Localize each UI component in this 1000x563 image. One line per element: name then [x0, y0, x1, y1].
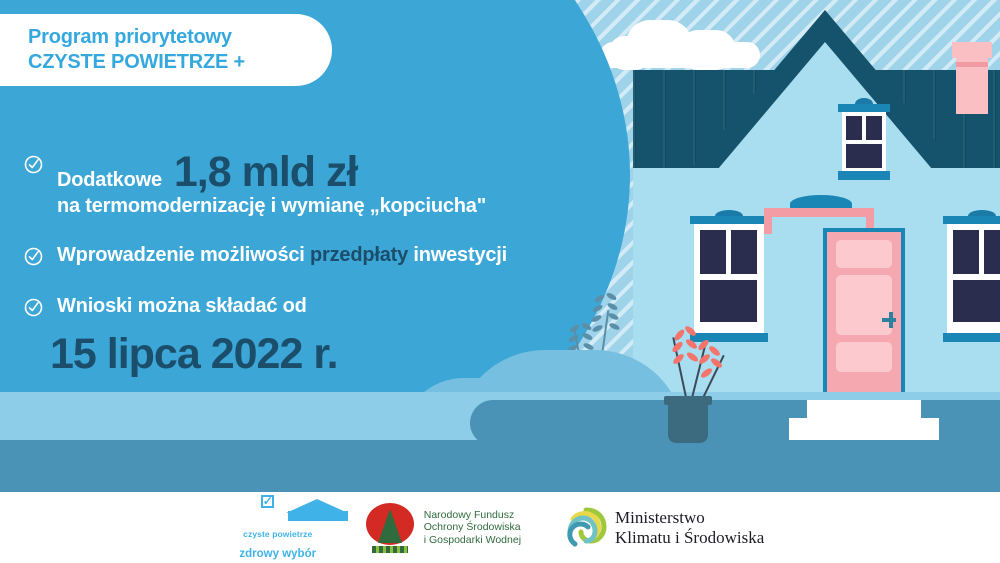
door-step-upper	[807, 400, 921, 418]
window-awning	[838, 104, 890, 112]
check-circle-icon	[24, 247, 43, 266]
window-awning	[943, 216, 1000, 224]
infographic-poster: Program priorytetowy CZYSTE POWIETRZE + …	[0, 0, 1000, 563]
bullet-highlight: przedpłaty	[310, 244, 408, 266]
bullet-lead-text: Dodatkowe	[57, 169, 162, 192]
nfosigw-text: Narodowy Fundusz Ochrony Środowiska i Go…	[424, 509, 521, 547]
badge-line-2: CZYSTE POWIETRZE +	[28, 50, 332, 75]
window-sill	[838, 171, 890, 180]
window-pane	[700, 230, 726, 274]
house-gable-wall	[707, 42, 943, 182]
ministerstwo-line-2: Klimatu i Środowiska	[615, 528, 764, 548]
bullet-item-prepayment: Wprowadzenie możliwości przedpłaty inwes…	[24, 244, 624, 267]
window-sill	[943, 333, 1000, 342]
program-badge: Program priorytetowy CZYSTE POWIETRZE +	[0, 14, 332, 86]
bullet-text: Wnioski można składać od	[24, 295, 624, 318]
window-upper	[842, 104, 886, 180]
door-handle-plate	[889, 312, 893, 328]
footer-logo-bar: ✓ czyste powietrze zdrowy wybór Narodowy…	[0, 492, 1000, 563]
nfosigw-line-3: i Gospodarki Wodnej	[424, 534, 521, 547]
bullet-part-2: inwestycji	[413, 244, 507, 266]
ground-strip	[0, 440, 1000, 492]
funding-amount: 1,8 mld zł	[174, 152, 358, 192]
window-pane	[731, 230, 757, 274]
bullet-part-1: Wprowadzenie możliwości	[57, 244, 305, 266]
ministerstwo-logo: Ministerstwo Klimatu i Środowiska	[565, 506, 764, 550]
nfosigw-line-1: Narodowy Fundusz	[424, 509, 521, 522]
plant-pot	[668, 398, 708, 443]
window-pane	[953, 280, 1000, 322]
window-pane	[846, 144, 882, 168]
window-frame	[842, 112, 886, 172]
window-awning	[690, 216, 768, 224]
window-left	[694, 216, 764, 342]
door-panel	[836, 240, 892, 268]
window-pane	[700, 280, 757, 322]
chimney	[956, 42, 988, 114]
bullet-sub-text: na termomodernizację i wymianę „kopciuch…	[24, 195, 624, 218]
window-right	[947, 216, 1000, 342]
swirl-icon	[565, 506, 607, 550]
door-panel	[836, 342, 892, 372]
window-pane	[846, 116, 862, 140]
door-panel	[836, 275, 892, 335]
ministerstwo-text: Ministerstwo Klimatu i Środowiska	[615, 508, 764, 548]
ministerstwo-line-1: Ministerstwo	[615, 508, 764, 528]
nfosigw-logo: Narodowy Fundusz Ochrony Środowiska i Go…	[364, 503, 521, 553]
window-pane	[984, 230, 1000, 274]
czyste-powietrze-logo: ✓ czyste powietrze zdrowy wybór	[236, 495, 320, 561]
check-circle-icon	[24, 298, 43, 317]
chimney-band	[956, 62, 988, 67]
application-start-date: 15 lipca 2022 r.	[50, 330, 338, 379]
door-step-lower	[789, 418, 939, 440]
window-frame	[694, 224, 764, 334]
badge-line-1: Program priorytetowy	[28, 25, 332, 50]
check-circle-icon	[24, 155, 43, 174]
door-canopy	[764, 208, 874, 217]
door-canopy-left	[764, 208, 772, 234]
window-pane	[953, 230, 979, 274]
bullet-list: Dodatkowe 1,8 mld zł na termomodernizacj…	[24, 152, 624, 326]
cp-logo-line-1: czyste powietrze	[243, 529, 312, 540]
tree-circle-icon	[364, 503, 416, 553]
window-pane	[866, 116, 882, 140]
bullet-item-funding: Dodatkowe 1,8 mld zł na termomodernizacj…	[24, 152, 624, 218]
window-frame	[947, 224, 1000, 334]
bullet-item-applications: Wnioski można składać od	[24, 295, 624, 318]
nfosigw-line-2: Ochrony Środowiska	[424, 521, 521, 534]
cp-logo-line-2: zdrowy wybór	[239, 548, 316, 561]
